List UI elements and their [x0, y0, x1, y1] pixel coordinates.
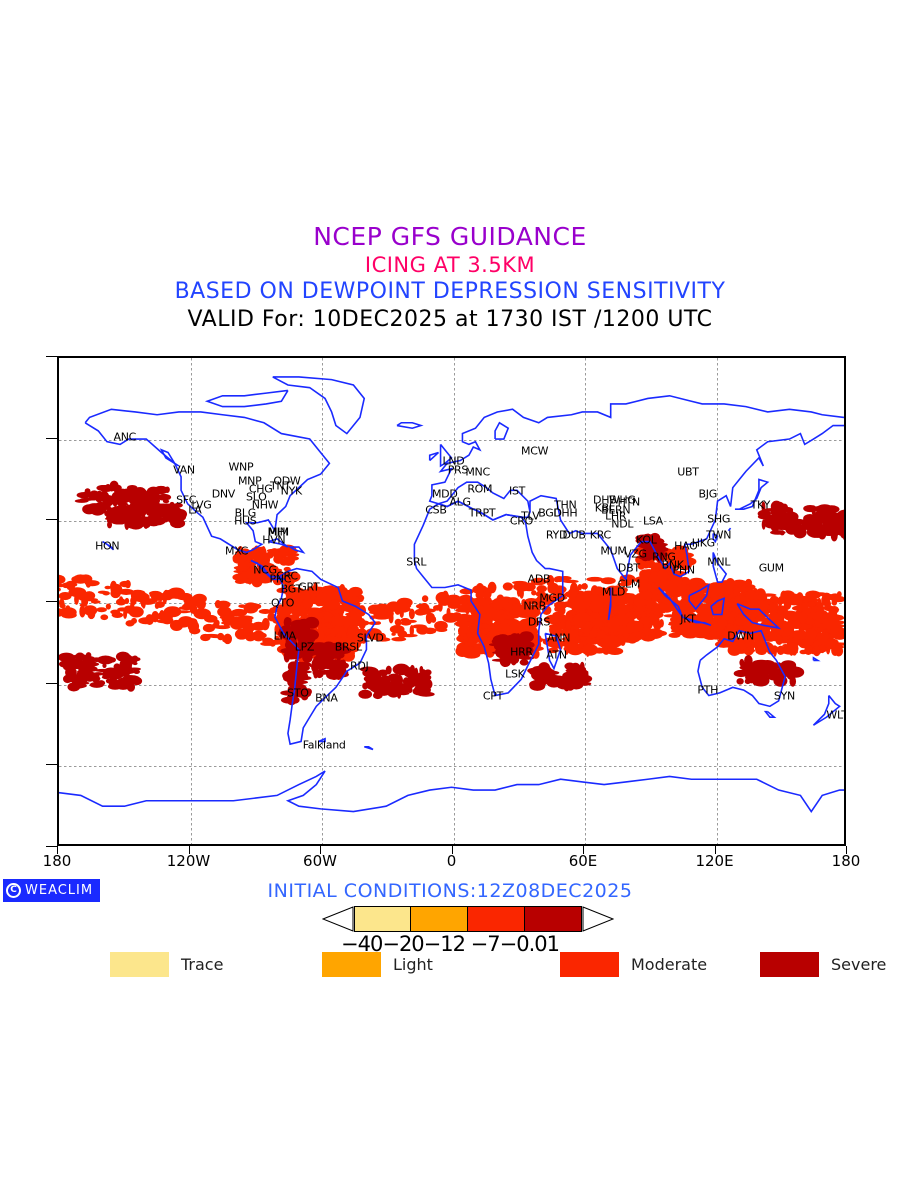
- station-label-DBT: DBT: [618, 561, 640, 574]
- icing-blob: [667, 575, 672, 580]
- icing-blob: [298, 612, 304, 617]
- icing-blob: [837, 591, 842, 597]
- icing-blob: [296, 633, 305, 636]
- icing-blob: [538, 662, 550, 674]
- icing-blob: [159, 486, 165, 491]
- icing-blob: [744, 655, 753, 667]
- station-label-HON: HON: [95, 539, 119, 552]
- key-item-severe: Severe: [760, 952, 886, 977]
- icing-blob: [756, 649, 766, 655]
- station-label-LPZ: LPZ: [295, 640, 314, 653]
- icing-blob: [116, 492, 131, 502]
- x-axis-label-0: 0: [447, 852, 457, 870]
- icing-blob: [350, 611, 356, 618]
- station-label-GRT: GRT: [298, 580, 319, 593]
- icing-blob: [726, 578, 735, 589]
- x-axis-label-120E: 120E: [695, 852, 733, 870]
- station-label-WLT: WLT: [826, 708, 846, 721]
- icing-blob: [813, 592, 828, 596]
- icing-blob: [321, 586, 334, 594]
- icing-blob: [262, 618, 270, 629]
- icing-blob: [399, 598, 408, 603]
- colorbar-segment-trace: [354, 906, 411, 932]
- icing-blob: [829, 631, 840, 634]
- map-plot-area[interactable]: ANCVANWNPMNPODWTNTNYKCHGDNVSLOSFCLVGLANH…: [57, 356, 846, 846]
- key-label-trace: Trace: [181, 955, 223, 974]
- station-label-NRB: NRB: [523, 599, 546, 612]
- icing-blob: [78, 666, 92, 673]
- icing-blob: [824, 599, 831, 609]
- colorbar-right-arrow: [582, 906, 614, 932]
- icing-blob: [773, 522, 779, 527]
- icing-blob: [640, 580, 649, 592]
- colorbar-segment-moderate: [468, 906, 525, 932]
- icing-blob: [61, 612, 77, 619]
- icing-blob: [782, 644, 789, 647]
- icing-blob: [758, 514, 772, 519]
- icing-blob: [127, 682, 135, 691]
- station-label-MXC: MXC: [225, 545, 248, 558]
- station-label-PHN: PHN: [673, 564, 695, 577]
- icing-blob: [570, 674, 576, 681]
- colorbar-segment-light: [411, 906, 468, 932]
- icing-blob: [73, 580, 83, 583]
- icing-blob: [82, 656, 86, 664]
- key-label-light: Light: [393, 955, 433, 974]
- icing-blob: [232, 613, 239, 617]
- copyright-circle-icon: C: [6, 883, 21, 898]
- key-swatch-moderate: [560, 952, 619, 977]
- icing-blob: [104, 510, 118, 518]
- icing-blob: [503, 582, 513, 590]
- world-map-graphic: [59, 358, 844, 844]
- key-label-severe: Severe: [831, 955, 886, 974]
- icing-blob: [331, 615, 349, 626]
- icing-blob: [434, 621, 448, 631]
- x-axis-label-60W: 60W: [303, 852, 337, 870]
- icing-blob: [85, 580, 100, 586]
- station-label-LSA: LSA: [643, 515, 663, 528]
- coastline-segment: [766, 712, 775, 717]
- key-item-light: Light: [322, 952, 433, 977]
- icing-blob: [279, 547, 290, 552]
- title-line-1: NCEP GFS GUIDANCE: [0, 222, 900, 252]
- station-label-IST: IST: [509, 485, 525, 498]
- icing-blob: [762, 600, 768, 611]
- icing-blob: [702, 608, 716, 613]
- station-label-THN: THN: [554, 499, 576, 512]
- icing-blob: [358, 690, 372, 699]
- icing-blob: [835, 643, 842, 649]
- weaclim-logo-text: WEACLIM: [25, 883, 93, 898]
- icing-blob: [628, 601, 633, 606]
- icing-blob: [146, 509, 163, 517]
- icing-blob: [324, 623, 329, 627]
- severity-key: TraceLightModerateSevere: [110, 952, 890, 980]
- icing-blob: [745, 591, 756, 596]
- y-axis-tick: [46, 683, 57, 684]
- icing-blob: [91, 600, 101, 604]
- icing-blob: [154, 495, 165, 499]
- icing-blob: [451, 598, 455, 607]
- icing-blob: [59, 599, 64, 607]
- icing-blob: [163, 590, 176, 597]
- colorbar: [322, 906, 614, 932]
- icing-blob: [387, 610, 394, 613]
- icing-blob: [163, 500, 169, 504]
- icing-blob: [569, 680, 583, 689]
- icing-blob: [110, 610, 120, 615]
- icing-blob: [805, 628, 817, 640]
- icing-blob: [582, 594, 589, 599]
- station-label-MLD: MLD: [602, 586, 625, 599]
- icing-blob: [350, 596, 359, 604]
- icing-blob: [581, 646, 594, 649]
- icing-blob: [395, 619, 402, 626]
- icing-blob: [390, 625, 405, 634]
- icing-blob: [673, 626, 679, 633]
- icing-blob: [414, 678, 427, 689]
- icing-blob: [498, 636, 513, 644]
- icing-blob: [326, 629, 335, 634]
- y-axis-tick: [46, 356, 57, 357]
- icing-blob: [803, 505, 817, 512]
- key-swatch-light: [322, 952, 381, 977]
- icing-blob: [426, 612, 433, 624]
- x-axis-label-180: 180: [43, 852, 72, 870]
- station-label-DUB: DUB: [562, 528, 585, 541]
- station-label-UBT: UBT: [677, 466, 698, 479]
- initial-conditions-text: INITIAL CONDITIONS:12Z08DEC2025: [0, 880, 900, 902]
- icing-blob: [164, 606, 182, 617]
- icing-blob: [120, 515, 127, 522]
- station-label-GUM: GUM: [759, 561, 784, 574]
- icing-blob: [204, 615, 218, 623]
- icing-blob: [59, 660, 75, 668]
- station-label-BNA: BNA: [315, 692, 337, 705]
- icing-blob: [780, 607, 785, 613]
- icing-blob: [655, 625, 659, 637]
- icing-blob: [730, 601, 737, 608]
- icing-blob: [349, 588, 363, 596]
- station-label-ANN: ANN: [547, 632, 570, 645]
- icing-blob: [119, 596, 123, 604]
- icing-blob: [784, 613, 798, 621]
- icing-blob: [571, 600, 587, 612]
- icing-blob: [563, 580, 579, 583]
- icing-blob: [98, 591, 108, 594]
- station-label-LMA: LMA: [274, 629, 296, 642]
- station-label-VAN: VAN: [173, 463, 195, 476]
- station-label-TKY: TKY: [751, 499, 770, 512]
- icing-blob: [91, 676, 101, 682]
- icing-blob: [215, 600, 221, 608]
- icing-blob: [567, 589, 577, 599]
- icing-blob: [546, 675, 559, 679]
- icing-blob: [107, 521, 112, 528]
- icing-blob: [143, 521, 148, 529]
- x-axis-label-180: 180: [832, 852, 861, 870]
- coastline-segment: [273, 377, 365, 434]
- icing-blob: [401, 634, 418, 637]
- station-label-ANC: ANC: [113, 430, 136, 443]
- icing-blob: [591, 627, 597, 638]
- icing-blob: [800, 639, 813, 646]
- icing-blob: [762, 519, 766, 529]
- station-label-HRR: HRR: [510, 646, 533, 659]
- icing-blob: [627, 636, 637, 644]
- icing-blob: [110, 484, 114, 491]
- icing-blob: [422, 595, 428, 602]
- station-label-NDL: NDL: [611, 518, 633, 531]
- icing-blob: [224, 618, 231, 628]
- icing-blob: [236, 573, 241, 581]
- icing-blob: [551, 627, 562, 632]
- icing-blob: [458, 614, 472, 620]
- icing-blob: [121, 656, 130, 666]
- icing-blob: [416, 625, 429, 634]
- icing-blob: [303, 598, 314, 609]
- icing-blob: [479, 606, 496, 618]
- station-label-CSB: CSB: [425, 504, 446, 517]
- icing-blob: [100, 669, 108, 672]
- station-label-ROM: ROM: [467, 482, 492, 495]
- coastline-segment: [430, 453, 439, 461]
- station-label-Falkland: Falkland: [303, 738, 346, 751]
- icing-blob: [601, 577, 616, 584]
- icing-blob: [760, 597, 767, 600]
- icing-blob: [595, 618, 609, 621]
- station-label-WNP: WNP: [228, 460, 253, 473]
- title-line-4-valid-time: VALID For: 10DEC2025 at 1730 IST /1200 U…: [0, 306, 900, 334]
- title-line-2: ICING AT 3.5KM: [0, 252, 900, 278]
- icing-blob: [734, 595, 746, 602]
- icing-blob: [127, 485, 138, 491]
- icing-blob: [740, 665, 756, 670]
- coastline-segment: [813, 658, 817, 661]
- icing-blob: [125, 598, 129, 604]
- station-label-LSK: LSK: [505, 667, 524, 680]
- icing-blob: [476, 583, 484, 595]
- icing-blob: [485, 589, 494, 593]
- icing-blob: [391, 637, 406, 641]
- x-axis-label-120W: 120W: [167, 852, 210, 870]
- y-axis-tick: [46, 846, 57, 847]
- icing-blob: [222, 638, 227, 642]
- icing-blob: [203, 634, 219, 637]
- icing-blob: [196, 599, 206, 610]
- icing-blob: [815, 526, 823, 538]
- icing-blob: [603, 635, 619, 643]
- station-label-MNL: MNL: [707, 556, 730, 569]
- icing-blob: [131, 618, 137, 624]
- coastline-segment: [207, 390, 288, 406]
- icing-blob: [643, 565, 649, 568]
- station-label-TRPT: TRPT: [469, 507, 496, 520]
- icing-blob: [130, 590, 145, 597]
- icing-blob: [531, 590, 536, 595]
- icing-blob: [422, 688, 430, 696]
- station-label-MUM: MUM: [600, 545, 626, 558]
- station-label-JKT: JKT: [680, 613, 695, 626]
- icing-blob: [547, 679, 562, 688]
- icing-blob: [520, 659, 529, 665]
- icing-blob: [736, 678, 743, 685]
- station-label-HVN: HVN: [262, 534, 285, 547]
- icing-blob: [373, 677, 378, 689]
- icing-blob: [768, 613, 784, 625]
- station-label-HUS: HUS: [234, 515, 256, 528]
- icing-blob: [777, 640, 792, 644]
- station-label-ATN: ATN: [546, 648, 567, 661]
- icing-blob: [110, 589, 121, 599]
- icing-blob: [323, 613, 333, 618]
- icing-blob: [92, 657, 102, 662]
- y-axis-tick: [46, 764, 57, 765]
- icing-blob: [736, 649, 746, 654]
- station-label-ALG: ALG: [449, 496, 470, 509]
- icing-blob: [194, 620, 198, 632]
- icing-blob: [565, 620, 571, 630]
- icing-blob: [75, 499, 89, 503]
- key-swatch-trace: [110, 952, 169, 977]
- station-label-BJG: BJG: [699, 488, 717, 501]
- icing-blob: [403, 667, 416, 677]
- icing-blob: [289, 655, 302, 659]
- icing-blob: [108, 657, 116, 662]
- icing-blob: [678, 552, 685, 558]
- icing-blob: [420, 669, 427, 676]
- icing-blob: [313, 670, 319, 676]
- icing-blob: [463, 651, 481, 659]
- icing-blob: [733, 589, 738, 594]
- icing-blob: [96, 607, 107, 612]
- station-label-DRS: DRS: [528, 616, 550, 629]
- icing-blob: [106, 603, 111, 609]
- icing-blob: [326, 670, 342, 680]
- icing-blob: [282, 671, 295, 681]
- x-axis-label-60E: 60E: [569, 852, 598, 870]
- station-label-SRL: SRL: [406, 556, 426, 569]
- icing-blob: [697, 582, 703, 587]
- y-axis-tick: [46, 438, 57, 439]
- icing-blob: [795, 597, 803, 606]
- icing-blob: [661, 581, 678, 592]
- station-label-DNV: DNV: [212, 488, 235, 501]
- icing-blob: [288, 554, 295, 561]
- icing-blob: [603, 622, 621, 627]
- icing-blob: [330, 662, 341, 667]
- icing-blob: [769, 604, 776, 611]
- icing-blob: [607, 647, 624, 655]
- icing-blob: [114, 505, 131, 509]
- icing-blob: [652, 564, 659, 572]
- title-block: NCEP GFS GUIDANCE ICING AT 3.5KM BASED O…: [0, 222, 900, 334]
- icing-blob: [583, 627, 590, 634]
- icing-blob: [823, 618, 840, 629]
- station-label-QTO: QTO: [271, 597, 294, 610]
- icing-blob: [85, 488, 91, 495]
- colorbar-left-arrow: [322, 906, 354, 932]
- station-label-SYN: SYN: [774, 689, 795, 702]
- station-label-KRC: KRC: [590, 528, 611, 541]
- station-label-STO: STO: [287, 686, 308, 699]
- icing-blob: [129, 606, 144, 617]
- icing-blob: [534, 679, 542, 687]
- icing-blob: [161, 616, 173, 624]
- icing-blob: [386, 666, 392, 675]
- icing-blob: [512, 581, 527, 585]
- icing-blob: [808, 601, 815, 607]
- icing-blob: [800, 650, 808, 655]
- icing-blob: [248, 631, 254, 641]
- icing-blob: [739, 659, 744, 667]
- icing-blob: [745, 586, 753, 591]
- icing-blob: [739, 670, 749, 674]
- icing-blob: [728, 616, 735, 622]
- icing-blob: [234, 566, 249, 570]
- icing-blob: [237, 617, 252, 625]
- icing-blob: [820, 644, 825, 653]
- icing-blob: [212, 623, 220, 629]
- key-swatch-severe: [760, 952, 819, 977]
- icing-blob: [100, 614, 108, 620]
- icing-blob: [645, 605, 654, 608]
- icing-blob: [455, 608, 472, 612]
- icing-blob: [168, 502, 175, 514]
- coastline-segment: [59, 771, 844, 811]
- key-label-moderate: Moderate: [631, 955, 707, 974]
- icing-blob: [92, 505, 103, 509]
- icing-blob: [778, 597, 791, 603]
- icing-blob: [98, 491, 109, 502]
- icing-blob: [167, 513, 184, 525]
- icing-blob: [85, 662, 99, 667]
- station-label-HKG: HKG: [692, 537, 715, 550]
- icing-blob: [823, 521, 840, 525]
- colorbar-segment-severe: [525, 906, 582, 932]
- icing-blob: [746, 676, 762, 681]
- icing-blob: [813, 648, 820, 656]
- icing-blob: [681, 591, 686, 601]
- icing-blob: [165, 486, 170, 493]
- icing-blob: [149, 591, 162, 596]
- station-label-CRO: CRO: [510, 515, 533, 528]
- station-label-VZG: VZG: [624, 548, 647, 561]
- icing-blob: [758, 667, 776, 674]
- station-label-MCW: MCW: [521, 444, 548, 457]
- icing-blob: [717, 619, 727, 628]
- icing-blob: [533, 668, 539, 676]
- icing-blob: [466, 633, 482, 638]
- icing-blob: [602, 613, 614, 617]
- icing-blob: [190, 604, 198, 614]
- icing-blob: [130, 597, 137, 606]
- station-label-MNC: MNC: [465, 466, 490, 479]
- icing-blob: [396, 675, 403, 687]
- station-label-RDJ: RDJ: [350, 659, 368, 672]
- icing-blob: [391, 633, 395, 636]
- icing-blob: [138, 500, 146, 508]
- station-label-LA: LA: [188, 504, 201, 517]
- station-label-SHG: SHG: [707, 512, 730, 525]
- icing-blob: [519, 588, 524, 599]
- station-label-SLVD: SLVD: [357, 632, 384, 645]
- icing-blob: [817, 598, 821, 609]
- icing-blob: [755, 638, 764, 647]
- icing-blob: [442, 591, 449, 603]
- icing-blob: [715, 583, 721, 595]
